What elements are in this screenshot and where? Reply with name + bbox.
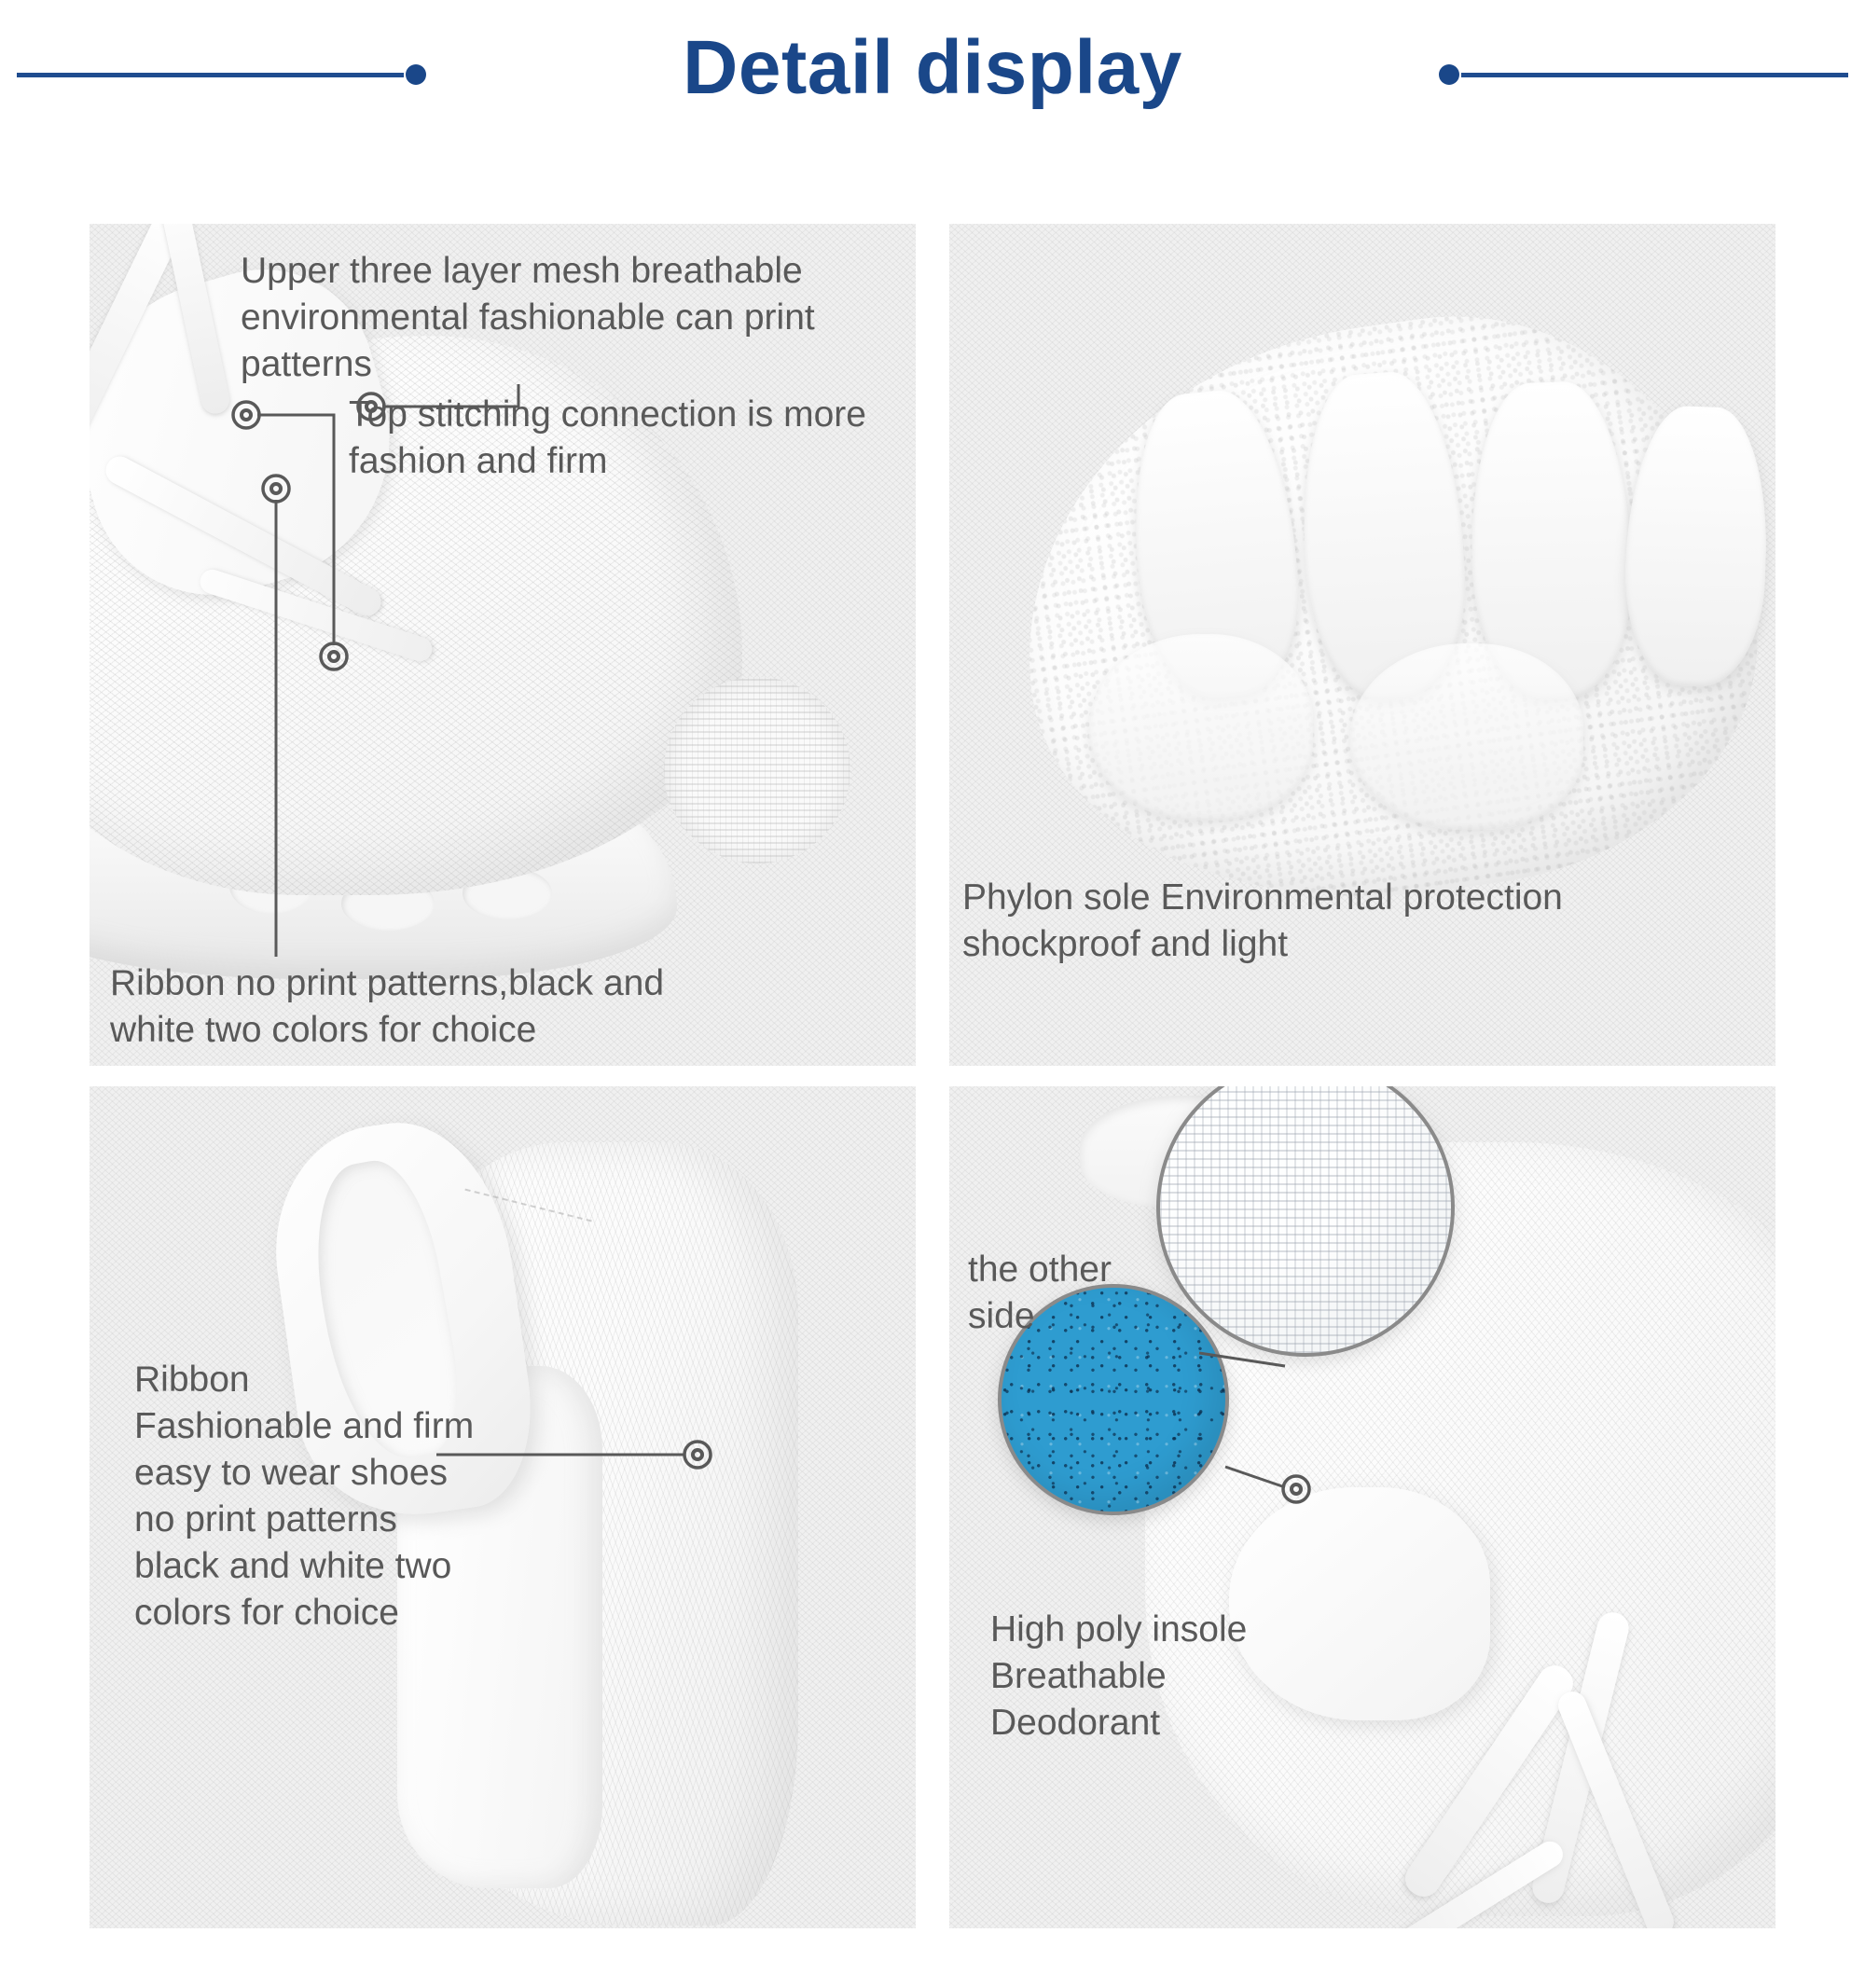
panel-insole: the other side High poly insole Breathab… bbox=[949, 1086, 1775, 1928]
tread-pad bbox=[1350, 643, 1583, 830]
page-title: Detail display bbox=[0, 17, 1865, 119]
panel-heel-ribbon: Ribbon Fashionable and firm easy to wear… bbox=[90, 1086, 916, 1928]
stitching-zoom-circle bbox=[664, 677, 850, 863]
text-upper-mesh-main: Upper three layer mesh breathable enviro… bbox=[241, 248, 856, 388]
text-other-side: the other side bbox=[968, 1247, 1173, 1340]
detail-panel-grid: Upper three layer mesh breathable enviro… bbox=[90, 224, 1775, 1928]
panel-phylon-sole: Phylon sole Environmental protection sho… bbox=[949, 224, 1775, 1066]
text-top-stitching: Top stitching connection is more fashion… bbox=[349, 392, 871, 485]
text-phylon-sole: Phylon sole Environmental protection sho… bbox=[962, 875, 1736, 968]
page-header: Detail display bbox=[0, 0, 1865, 149]
header-rule-right bbox=[1461, 73, 1848, 77]
text-ribbon-colors: Ribbon no print patterns,black and white… bbox=[110, 960, 688, 1054]
shoe-photo-insole bbox=[949, 1086, 1775, 1928]
panel-upper-mesh: Upper three layer mesh breathable enviro… bbox=[90, 224, 916, 1066]
tread-pad bbox=[1089, 634, 1313, 821]
header-dot-right bbox=[1439, 64, 1459, 85]
text-high-poly-insole: High poly insole Breathable Deodorant bbox=[990, 1607, 1382, 1746]
text-heel-ribbon: Ribbon Fashionable and firm easy to wear… bbox=[134, 1357, 526, 1636]
